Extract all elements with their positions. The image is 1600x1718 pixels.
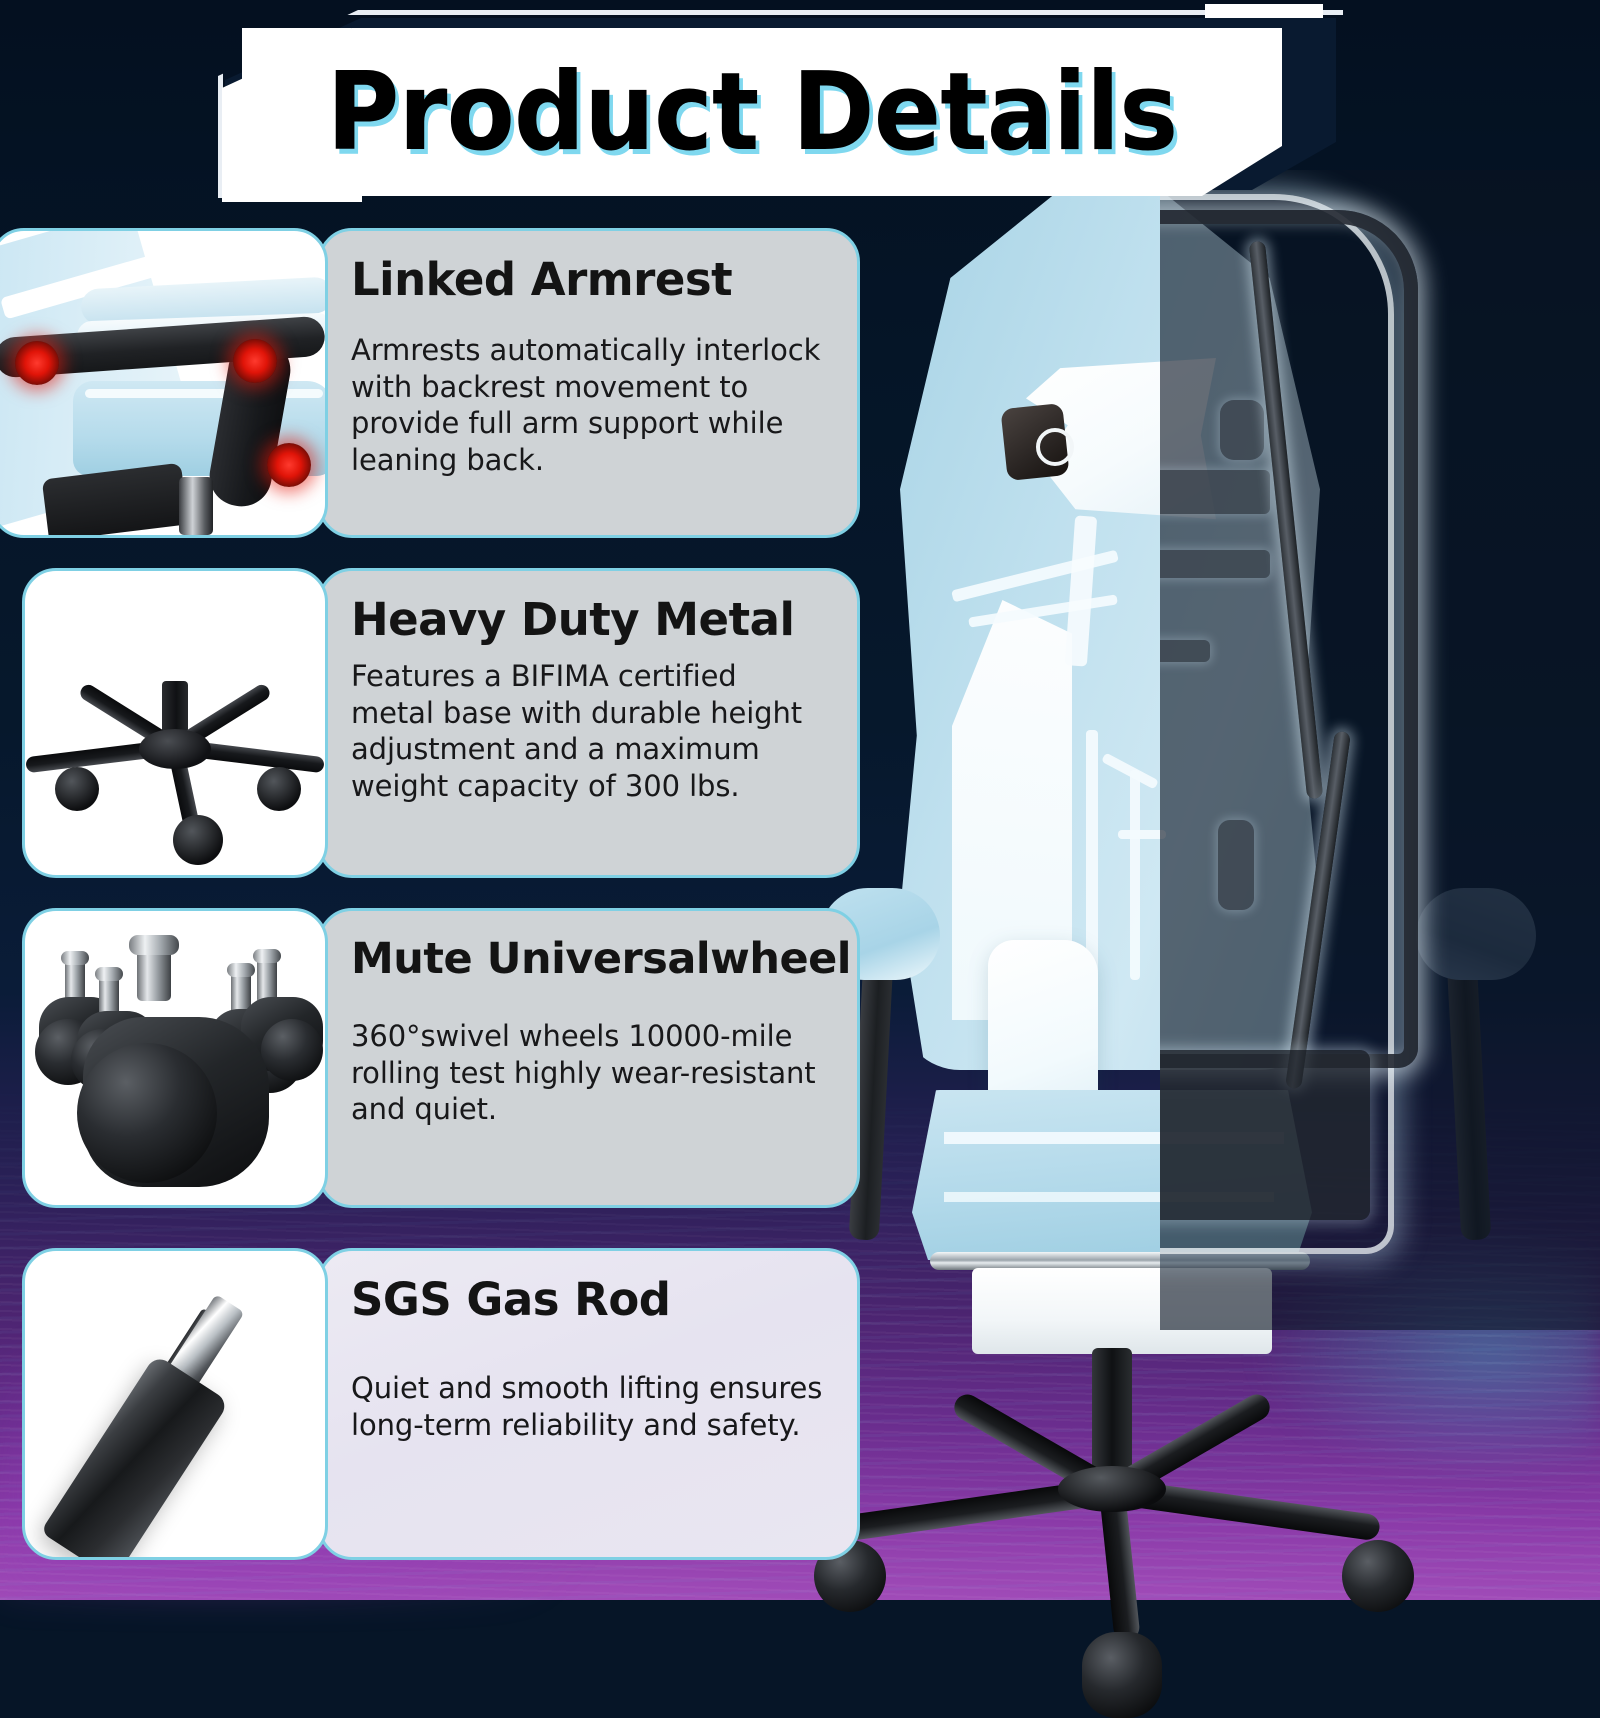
feature-text-card: Mute Universalwheel 360°swivel wheels 10… <box>318 908 860 1208</box>
armrest-thumb-gas-cylinder <box>179 477 213 535</box>
pivot-point-marker-icon <box>15 341 59 385</box>
base-thumb-caster <box>173 815 223 865</box>
feature-title: Mute Universalwheel <box>351 937 827 982</box>
chair-caster <box>1342 1540 1414 1612</box>
pivot-point-marker-icon <box>267 443 311 487</box>
feature-title: Linked Armrest <box>351 257 827 304</box>
armrest-thumb-seat-stripe <box>85 389 323 398</box>
feature-text-card: SGS Gas Rod Quiet and smooth lifting ens… <box>318 1248 860 1560</box>
gaming-chair-image <box>800 170 1600 1600</box>
feature-description: Quiet and smooth lifting ensures long-te… <box>351 1370 827 1444</box>
chair-base-hub <box>1058 1466 1166 1512</box>
caster-stem-cap <box>253 949 281 963</box>
xray-frame-plate <box>1160 470 1270 514</box>
xray-frame-bracket <box>1220 400 1264 460</box>
xray-frame-plate <box>1160 550 1270 578</box>
chair-xray-overlay <box>1160 170 1600 1330</box>
feature-thumbnail-gas-rod <box>22 1248 328 1560</box>
feature-description: Armrests automatically interlock with ba… <box>351 332 827 479</box>
feature-thumbnail-casters <box>22 908 328 1208</box>
caster-wheel-front <box>77 1043 217 1183</box>
chair-stripe <box>1118 830 1166 839</box>
feature-title: SGS Gas Rod <box>351 1277 827 1324</box>
caster-stem-cap <box>95 967 123 981</box>
chair-base-leg <box>1099 1490 1141 1642</box>
caster-stem-cap <box>61 951 89 965</box>
gas-rod-cylinder <box>40 1354 229 1560</box>
base-thumb-caster <box>55 767 99 811</box>
feature-text-card: Heavy Duty Metal Features a BIFIMA certi… <box>318 568 860 878</box>
chair-caster <box>1082 1632 1162 1718</box>
feature-thumbnail-metal-base <box>22 568 328 878</box>
xray-seat-plate <box>1160 1050 1370 1220</box>
feature-list: Linked Armrest Armrests automatically in… <box>0 0 900 1600</box>
caster-stem-cap <box>227 963 255 977</box>
caster-stem-cap-front <box>129 935 179 955</box>
base-thumb-caster <box>257 767 301 811</box>
chair-stripe <box>1130 770 1140 980</box>
headrest-buckle-ring <box>1036 428 1074 466</box>
feature-title: Heavy Duty Metal <box>351 597 827 644</box>
feature-description: 360°swivel wheels 10000-mile rolling tes… <box>351 1018 827 1128</box>
feature-thumbnail-armrest <box>0 228 328 538</box>
base-thumb-hub <box>139 729 211 769</box>
xray-internal-frame <box>1160 210 1418 1068</box>
caster-wheel <box>261 1019 323 1081</box>
pivot-point-marker-icon <box>233 339 277 383</box>
feature-description: Features a BIFIMA certified metal base w… <box>351 658 827 805</box>
xray-frame-plate <box>1160 640 1210 662</box>
chair-stripe <box>1086 730 1098 980</box>
feature-text-card: Linked Armrest Armrests automatically in… <box>318 228 860 538</box>
header-accent-bar-top-right <box>1205 4 1323 18</box>
xray-frame-bracket <box>1218 820 1254 910</box>
